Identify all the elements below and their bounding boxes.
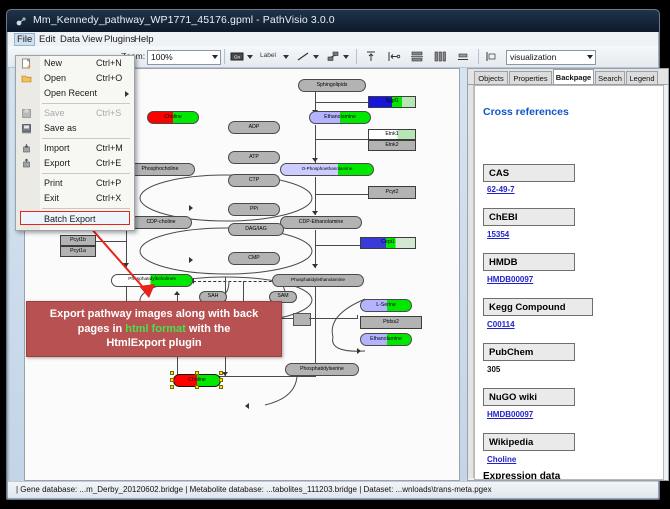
window-title: Mm_Kennedy_pathway_WP1771_45176.gpml - P… <box>33 14 335 26</box>
menu-item-label: Save <box>44 108 65 118</box>
node-label: Choline <box>188 378 206 383</box>
gene-node-sgpl1[interactable]: Sgpl1 <box>368 96 416 108</box>
datanode-tool-icon[interactable]: Gn <box>230 50 244 63</box>
stack-vertical-icon[interactable] <box>410 50 424 63</box>
gene-node-etnk1[interactable]: Etnk1 <box>368 129 416 140</box>
line-dropdown-caret-icon[interactable] <box>313 55 319 59</box>
node-label: ADP <box>249 125 260 130</box>
side-panel: Objects Properties Backpage Search Legen… <box>467 68 669 481</box>
menu-item-accel: Ctrl+N <box>96 58 122 68</box>
submenu-arrow-icon <box>125 91 129 97</box>
node-label: SAH <box>208 294 219 299</box>
edge-ophospho-cdpetn <box>315 177 316 215</box>
open-folder-icon <box>21 73 32 84</box>
tab-backpage[interactable]: Backpage <box>553 69 594 84</box>
node-label: Ptdss2 <box>383 320 399 325</box>
menu-item-label: Export <box>44 158 70 168</box>
menu-item-accel: Ctrl+O <box>96 73 122 83</box>
node-label: DAG/IAG <box>245 227 267 232</box>
metabolite-node-lserine[interactable]: L-Serine <box>360 299 412 312</box>
backpage-entry-value-kegg[interactable]: C00114 <box>487 320 515 329</box>
node-label: Sgpl1 <box>385 99 398 104</box>
edge-gene-stub <box>315 194 368 195</box>
menu-item-accel: Ctrl+X <box>96 193 121 203</box>
arrow-icon <box>312 158 318 162</box>
node-label: Phosphatidylserine <box>300 367 344 372</box>
backpage-entry-value-pubchem: 305 <box>487 365 500 374</box>
pathvisio-app-icon <box>15 15 27 27</box>
selection-handle[interactable] <box>195 371 199 375</box>
application-window: Mm_Kennedy_pathway_WP1771_45176.gpml - P… <box>6 9 660 500</box>
node-label: Etnk2 <box>385 143 398 148</box>
common-width-icon[interactable] <box>456 50 470 63</box>
node-label: Phosphocholine <box>142 167 179 172</box>
menu-item-label: Open Recent <box>44 88 97 98</box>
import-icon <box>21 143 32 154</box>
callout-line2-a: pages in <box>78 323 126 335</box>
selection-handle[interactable] <box>170 385 174 389</box>
menu-bar: File Edit Data View Plugins Help <box>8 32 658 47</box>
metabolite-node-adp[interactable]: ADP <box>228 121 280 134</box>
menu-item-accel: Ctrl+M <box>96 143 123 153</box>
screenshot-root: Mm_Kennedy_pathway_WP1771_45176.gpml - P… <box>0 0 670 509</box>
menu-separator <box>42 103 130 104</box>
node-label: Phosphatidylethanolamine <box>291 278 345 283</box>
distribute-horizontal-icon[interactable] <box>433 50 447 63</box>
status-bar: | Gene database: ...m_Derby_20120602.bri… <box>8 481 658 498</box>
visualization-chevron-down-icon <box>587 55 593 59</box>
backpage-entry-value-chebi[interactable]: 15354 <box>487 230 509 239</box>
align-left-icon[interactable] <box>387 50 401 63</box>
node-label: Choline <box>164 115 182 120</box>
menu-item-export[interactable]: Export Ctrl+E <box>16 156 134 171</box>
chevron-down-icon <box>212 55 218 59</box>
node-label: O-Phosphoethanolamine <box>302 167 353 172</box>
entry-label: HMDB <box>484 257 518 268</box>
node-label: Pcyt2 <box>386 190 399 195</box>
toolbar-separator-3 <box>478 49 479 64</box>
backpage-entry-value-wikipedia[interactable]: Choline <box>487 455 516 464</box>
backpage-entry-name-nugo: NuGO wiki <box>483 388 575 406</box>
line-tool-icon[interactable] <box>296 50 310 63</box>
node-label: ATP <box>249 155 259 160</box>
gene-node-pcyt2[interactable]: Pcyt2 <box>368 186 416 199</box>
node-label: Ethanolamine <box>370 337 402 342</box>
menu-item-label: Exit <box>44 193 59 203</box>
common-height-icon[interactable] <box>484 50 498 63</box>
menu-separator <box>42 173 130 174</box>
selection-handle[interactable] <box>219 385 223 389</box>
menu-item-save-as[interactable]: Save as <box>16 121 134 136</box>
metabolite-node-choline[interactable]: Choline <box>147 111 199 124</box>
metabolite-node-phosphatidylserine[interactable]: Phosphatidylserine <box>285 363 359 376</box>
save-as-icon <box>21 123 32 134</box>
menu-separator <box>42 208 130 209</box>
menu-item-exit[interactable]: Exit Ctrl+X <box>16 191 134 206</box>
metabolite-node-dag[interactable]: DAG/IAG <box>228 223 284 236</box>
ptdss-connector-node[interactable] <box>293 313 311 326</box>
metabolite-node-phosphocholine[interactable]: Phosphocholine <box>125 163 195 176</box>
entry-label: NuGO wiki <box>484 392 537 403</box>
gene-node-cept1[interactable]: Cept1 <box>360 237 416 249</box>
menu-item-open[interactable]: Open Ctrl+O <box>16 71 134 86</box>
menu-separator <box>42 138 130 139</box>
selection-handle[interactable] <box>219 378 223 382</box>
visualization-combo[interactable]: visualization <box>506 50 596 65</box>
backpage-entry-name-kegg: Kegg Compound <box>483 298 593 316</box>
edge-gene-stub <box>315 102 368 103</box>
zoom-value: 100% <box>151 52 173 62</box>
metabolite-node[interactable]: Sphingolipids <box>298 79 366 92</box>
arrow-icon <box>357 348 361 354</box>
menu-item-accel: Ctrl+S <box>96 108 121 118</box>
export-icon <box>21 158 32 169</box>
tab-search[interactable]: Search <box>595 71 625 84</box>
align-top-icon[interactable] <box>364 50 378 63</box>
selection-handle[interactable] <box>170 371 174 375</box>
backpage-entry-name-cas: CAS <box>483 164 575 182</box>
backpage-content: Cross references CAS 62-49-7 ChEBI 15354… <box>474 85 664 480</box>
expression-data-heading: Expression data <box>483 471 560 480</box>
node-label: Ethanolamine <box>324 115 356 120</box>
node-label: Sphingolipids <box>317 83 348 88</box>
menu-item-save[interactable]: Save Ctrl+S <box>16 106 134 121</box>
side-panel-tabs: Objects Properties Backpage Search Legen… <box>468 69 668 85</box>
edge-line <box>357 315 358 319</box>
metabolite-node-ppi[interactable]: PPi <box>228 203 280 216</box>
node-label: SAM <box>277 294 288 299</box>
menu-item-accel: Ctrl+P <box>96 178 121 188</box>
metabolite-node-phosphatidylethanolamine[interactable]: Phosphatidylethanolamine <box>272 274 364 287</box>
entry-label: ChEBI <box>484 212 518 223</box>
entry-label: Kegg Compound <box>484 302 566 313</box>
label-dropdown-caret-icon[interactable] <box>283 55 289 59</box>
choline-return-curve <box>221 369 301 415</box>
zoom-combo[interactable]: 100% <box>147 50 221 65</box>
node-label: Cept1 <box>381 240 395 245</box>
metabolite-node-ophosphoethanolamine[interactable]: O-Phosphoethanolamine <box>280 163 374 176</box>
edge-line <box>315 277 316 377</box>
svg-text:Gn: Gn <box>234 55 241 60</box>
interaction-tool-icon[interactable] <box>326 50 340 63</box>
status-text: | Gene database: ...m_Derby_20120602.bri… <box>16 485 492 494</box>
node-label: CTP <box>249 178 259 183</box>
tab-objects[interactable]: Objects <box>474 71 508 84</box>
metabolite-node-ethanolamine[interactable]: Ethanolamine <box>309 111 371 124</box>
menu-item-label: Open <box>44 73 66 83</box>
backpage-entry-name-wikipedia: Wikipedia <box>483 433 575 451</box>
metabolite-node-cdpethanolamine[interactable]: CDP-Ethanolamine <box>280 216 362 229</box>
gene-node-ptdss2[interactable]: Ptdss2 <box>360 316 422 329</box>
node-label: L-Serine <box>376 303 396 308</box>
tab-legend[interactable]: Legend <box>626 71 658 84</box>
backpage-heading: Cross references <box>483 106 569 118</box>
menu-edit[interactable]: Edit <box>36 33 58 46</box>
edge-cdpetn-ptdetn <box>315 230 316 268</box>
menu-file[interactable]: File <box>14 33 35 46</box>
entry-label: PubChem <box>484 347 533 358</box>
menu-item-import[interactable]: Import Ctrl+M <box>16 141 134 156</box>
save-disk-icon <box>21 108 32 119</box>
menu-help[interactable]: Help <box>131 33 157 46</box>
menu-item-accel: Ctrl+E <box>96 158 121 168</box>
callout-line2-highlight: html format <box>125 323 186 335</box>
selection-handle[interactable] <box>195 385 199 389</box>
edge-gene-stub <box>315 139 368 140</box>
menu-item-label: Batch Export <box>44 214 96 224</box>
backpage-entry-value-cas[interactable]: 62-49-7 <box>487 185 515 194</box>
arrow-icon <box>245 403 249 409</box>
selection-handle[interactable] <box>219 371 223 375</box>
visualization-value: visualization <box>510 52 556 62</box>
backpage-entry-name-pubchem: PubChem <box>483 343 575 361</box>
backpage-entry-name-hmdb: HMDB <box>483 253 575 271</box>
datanode-dropdown-caret-icon[interactable] <box>247 55 253 59</box>
selection-handle[interactable] <box>170 378 174 382</box>
label-tool-text[interactable]: Label <box>260 52 276 59</box>
interaction-dropdown-caret-icon[interactable] <box>343 55 349 59</box>
title-bar: Mm_Kennedy_pathway_WP1771_45176.gpml - P… <box>7 10 659 32</box>
node-label: CDP-Ethanolamine <box>299 220 343 225</box>
gene-node-etnk2[interactable]: Etnk2 <box>368 140 416 151</box>
toolbar-separator-2 <box>356 49 357 64</box>
toolbar-separator <box>224 49 225 64</box>
menu-item-label: Print <box>44 178 63 188</box>
entry-label: Wikipedia <box>484 437 533 448</box>
metabolite-node-atp[interactable]: ATP <box>228 151 280 164</box>
node-label: CMP <box>248 256 260 261</box>
menu-item-label: Save as <box>44 123 77 133</box>
tab-properties[interactable]: Properties <box>509 71 552 84</box>
callout-line2-b: with the <box>186 323 231 335</box>
metabolite-node-ctp[interactable]: CTP <box>228 174 280 187</box>
menu-item-batch-export[interactable]: Batch Export <box>16 211 134 227</box>
entry-label: CAS <box>484 168 509 179</box>
menu-item-open-recent[interactable]: Open Recent <box>16 86 134 101</box>
menu-item-new[interactable]: New Ctrl+N <box>16 56 134 71</box>
edge-line <box>309 318 357 319</box>
backpage-entry-name-chebi: ChEBI <box>483 208 575 226</box>
node-label: Etnk1 <box>385 132 398 137</box>
callout-line3: HtmlExport plugin <box>106 337 201 349</box>
file-menu-dropdown[interactable]: New Ctrl+N Open Ctrl+O Open Recent <box>15 55 135 231</box>
backpage-entry-value-hmdb[interactable]: HMDB00097 <box>487 275 533 284</box>
menu-item-label: Import <box>44 143 70 153</box>
metabolite-node-ethanolamine-2[interactable]: Ethanolamine <box>360 333 412 346</box>
menu-item-label: New <box>44 58 62 68</box>
menu-item-print[interactable]: Print Ctrl+P <box>16 176 134 191</box>
edge-gene-stub <box>315 245 360 246</box>
node-label: PPi <box>250 207 258 212</box>
new-file-icon <box>21 58 32 69</box>
metabolite-node-cmp[interactable]: CMP <box>228 252 280 265</box>
backpage-entry-value-nugo[interactable]: HMDB00097 <box>487 410 533 419</box>
